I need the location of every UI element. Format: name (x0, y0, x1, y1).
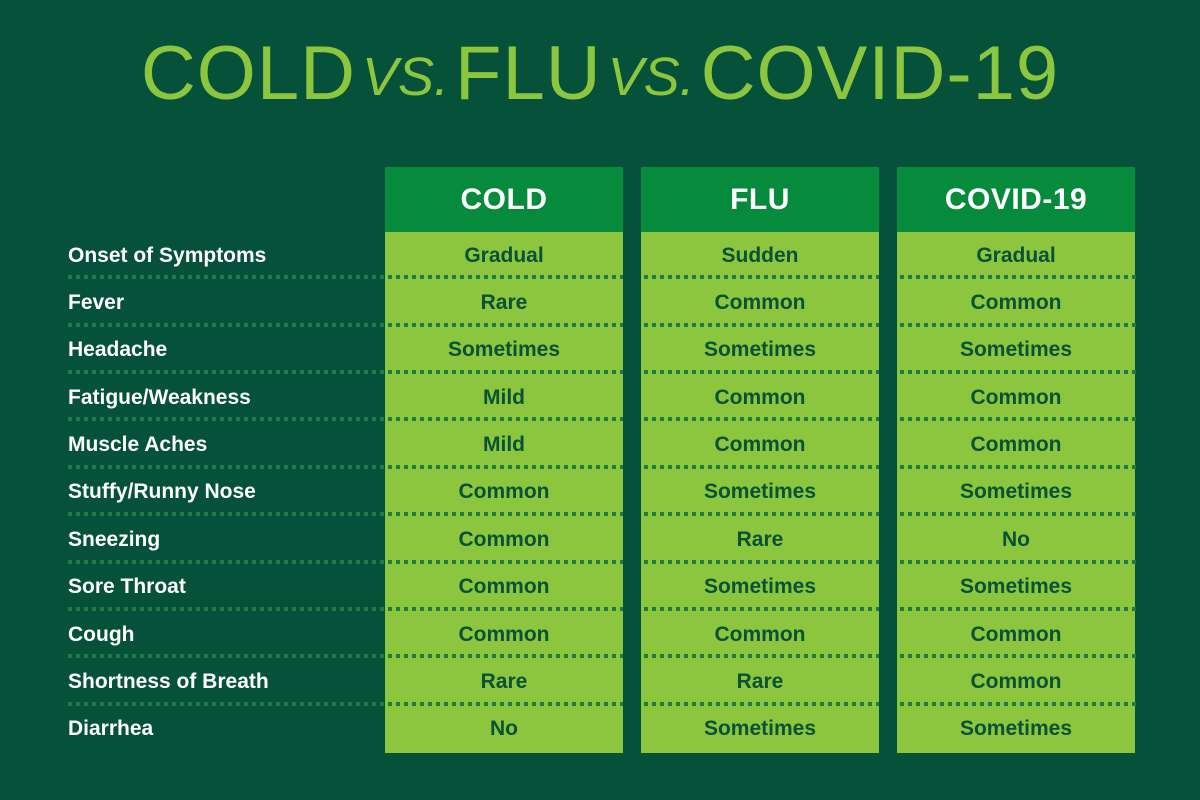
table-cell: Common (897, 374, 1135, 421)
table-cell: Common (641, 374, 879, 421)
table-row: HeadacheSometimesSometimesSometimes (0, 327, 1200, 374)
table-cell: Common (385, 611, 623, 658)
table-body: Onset of SymptomsGradualSuddenGradualFev… (0, 232, 1200, 753)
table-cell: Sometimes (897, 564, 1135, 611)
table-cell: Sudden (641, 232, 879, 279)
table-cell: Sometimes (641, 327, 879, 374)
table-row: CoughCommonCommonCommon (0, 611, 1200, 658)
table-cell: Common (897, 421, 1135, 468)
table-cell: Common (385, 469, 623, 516)
title-word-flu: FLU (455, 31, 602, 116)
table-row: Onset of SymptomsGradualSuddenGradual (0, 232, 1200, 279)
table-cell: Common (385, 564, 623, 611)
table-cell: Sometimes (641, 706, 879, 753)
table-cell: Common (641, 611, 879, 658)
table-row: SneezingCommonRareNo (0, 516, 1200, 563)
table-row: Muscle AchesMildCommonCommon (0, 421, 1200, 468)
table-cell: Sometimes (897, 469, 1135, 516)
row-label: Muscle Aches (68, 421, 207, 468)
table-cell: Common (641, 421, 879, 468)
table-row: FeverRareCommonCommon (0, 279, 1200, 326)
row-label: Diarrhea (68, 706, 153, 753)
title-word-covid: COVID-19 (701, 31, 1060, 116)
table-row: Stuffy/Runny NoseCommonSometimesSometime… (0, 469, 1200, 516)
comparison-table: COLD FLU COVID-19 Onset of SymptomsGradu… (0, 167, 1200, 753)
title-vs-1: VS. (356, 47, 455, 107)
table-cell: Sometimes (897, 706, 1135, 753)
row-label: Sneezing (68, 516, 160, 563)
row-label: Fatigue/Weakness (68, 374, 251, 421)
table-cell: Gradual (897, 232, 1135, 279)
table-cell: Mild (385, 421, 623, 468)
table-cell: Sometimes (897, 327, 1135, 374)
table-cell: Sometimes (641, 469, 879, 516)
row-label: Stuffy/Runny Nose (68, 469, 256, 516)
table-cell: Mild (385, 374, 623, 421)
table-cell: Sometimes (641, 564, 879, 611)
table-cell: Common (897, 279, 1135, 326)
table-cell: Common (897, 611, 1135, 658)
table-row: Shortness of BreathRareRareCommon (0, 658, 1200, 705)
row-label: Onset of Symptoms (68, 232, 266, 279)
page-title: COLDVS.FLUVS.COVID-19 (0, 36, 1200, 112)
row-label: Fever (68, 279, 124, 326)
table-cell: Common (897, 658, 1135, 705)
table-cell: Rare (641, 516, 879, 563)
column-header-flu: FLU (641, 167, 879, 232)
column-header-covid: COVID-19 (897, 167, 1135, 232)
table-cell: Rare (385, 658, 623, 705)
table-row: Sore ThroatCommonSometimesSometimes (0, 564, 1200, 611)
column-header-cold: COLD (385, 167, 623, 232)
table-cell: Common (641, 279, 879, 326)
table-row: Fatigue/WeaknessMildCommonCommon (0, 374, 1200, 421)
table-cell: No (897, 516, 1135, 563)
table-cell: Sometimes (385, 327, 623, 374)
title-word-cold: COLD (141, 31, 356, 116)
table-cell: No (385, 706, 623, 753)
title-vs-2: VS. (602, 47, 701, 107)
row-label: Shortness of Breath (68, 658, 269, 705)
table-cell: Rare (641, 658, 879, 705)
row-label: Cough (68, 611, 134, 658)
table-cell: Gradual (385, 232, 623, 279)
table-cell: Common (385, 516, 623, 563)
infographic-page: COLDVS.FLUVS.COVID-19 COLD FLU COVID-19 … (0, 0, 1200, 800)
table-row: DiarrheaNoSometimesSometimes (0, 706, 1200, 753)
row-label: Sore Throat (68, 564, 186, 611)
row-label: Headache (68, 327, 167, 374)
table-cell: Rare (385, 279, 623, 326)
